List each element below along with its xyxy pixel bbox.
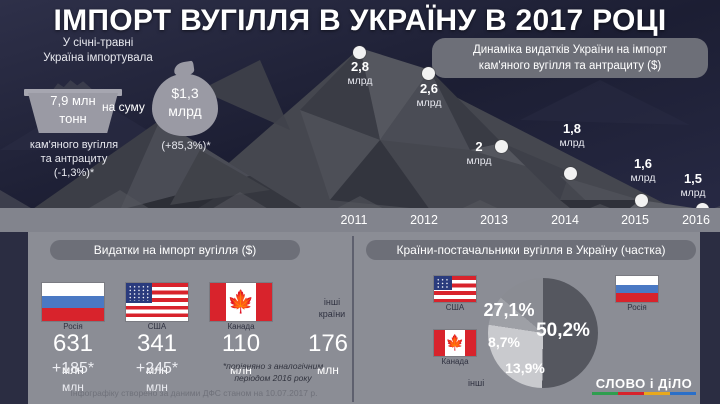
- data-point-2012: [422, 67, 435, 80]
- axis-tick-2012: 2012: [396, 213, 452, 227]
- intro-line-1: У січні-травні: [8, 36, 188, 51]
- brand-logo[interactable]: СЛОВО і ДіЛО: [592, 376, 696, 395]
- pie-label-canada: 8,7%: [478, 334, 530, 350]
- volume-caption-line1: кам'яного вугілля: [4, 138, 144, 152]
- pie-flag-canada-icon: 🍁: [434, 330, 476, 356]
- data-point-2011: [353, 46, 366, 59]
- data-label-2013: 2 млрд: [452, 140, 506, 168]
- pie-flag-russia-icon: [616, 276, 658, 302]
- pie-flag-usa-icon: [434, 276, 476, 302]
- pie-label-russia: 50,2%: [528, 320, 598, 342]
- axis-tick-2016: 2016: [668, 213, 720, 227]
- country-label-other: інші країни: [296, 296, 368, 320]
- pie-country-label-usa: США: [424, 303, 486, 312]
- data-point-2014: [564, 167, 577, 180]
- money-change: (+85,3%)*: [142, 140, 230, 152]
- axis-tick-2013: 2013: [466, 213, 522, 227]
- chart-legend-line1: Динаміка видатків України на імпорт: [442, 42, 698, 58]
- logo-bar-blue: [670, 392, 696, 395]
- brand-logo-text: СЛОВО і ДіЛО: [592, 376, 696, 391]
- footnote-comparison: *порівняно з аналогічним періодом 2016 р…: [198, 360, 348, 384]
- money-unit: млрд: [152, 102, 218, 120]
- chart-legend-pill: Динаміка видатків України на імпорт кам'…: [432, 38, 708, 78]
- panel-left-title: Видатки на імпорт вугілля ($): [50, 240, 300, 260]
- axis-tick-2014: 2014: [537, 213, 593, 227]
- data-label-2012: 2,6 млрд: [402, 82, 456, 110]
- pie-other-caption: інші: [468, 378, 484, 388]
- brand-logo-bar: [592, 392, 696, 395]
- data-label-2011: 2,8 млрд: [333, 60, 387, 88]
- flag-canada-icon: 🍁: [210, 283, 272, 321]
- volume-caption-line2: та антрациту: [4, 152, 144, 166]
- flag-russia-icon: [42, 283, 104, 321]
- left-edge-bar: [0, 232, 28, 404]
- page-title: ІМПОРТ ВУГІЛЛЯ В УКРАЇНУ В 2017 РОЦІ: [0, 4, 720, 38]
- money-value: $1,3: [152, 84, 218, 102]
- pie-country-label-russia: Росія: [606, 303, 668, 312]
- intro-text: У січні-травні Україна імпортувала: [8, 36, 188, 66]
- axis-tick-2015: 2015: [607, 213, 663, 227]
- mountain-scene: ІМПОРТ ВУГІЛЛЯ В УКРАЇНУ В 2017 РОЦІ У с…: [0, 0, 720, 232]
- source-footer: Інфографіку створено за даними ДФС стано…: [24, 388, 364, 398]
- data-label-2015: 1,6 млрд: [616, 157, 670, 185]
- data-label-2014: 1,8 млрд: [545, 122, 599, 150]
- volume-caption: кам'яного вугілля та антрациту (-1,3%)*: [4, 138, 144, 180]
- volume-change: (-1,3%)*: [4, 166, 144, 180]
- logo-bar-red: [618, 392, 644, 395]
- pie-label-usa: 27,1%: [478, 300, 540, 321]
- data-point-2015: [635, 194, 648, 207]
- right-edge-bar: [700, 232, 720, 404]
- pie-country-label-canada: Канада: [424, 357, 486, 366]
- money-value-block: $1,3 млрд: [152, 84, 218, 120]
- infographic-root: ІМПОРТ ВУГІЛЛЯ В УКРАЇНУ В 2017 РОЦІ У с…: [0, 0, 720, 404]
- pie-label-other: 13,9%: [496, 360, 554, 376]
- logo-bar-green: [592, 392, 618, 395]
- data-label-2016: 1,5 млрд: [666, 172, 720, 200]
- intro-line-2: Україна імпортувала: [8, 51, 188, 66]
- flag-usa-icon: [126, 283, 188, 321]
- chart-legend-line2: кам'яного вугілля та антрациту ($): [442, 58, 698, 74]
- connector-text: на суму: [102, 100, 145, 114]
- logo-bar-yellow: [644, 392, 670, 395]
- axis-tick-2011: 2011: [326, 213, 382, 227]
- panel-right-title: Країни-постачальники вугілля в Україну (…: [366, 240, 696, 260]
